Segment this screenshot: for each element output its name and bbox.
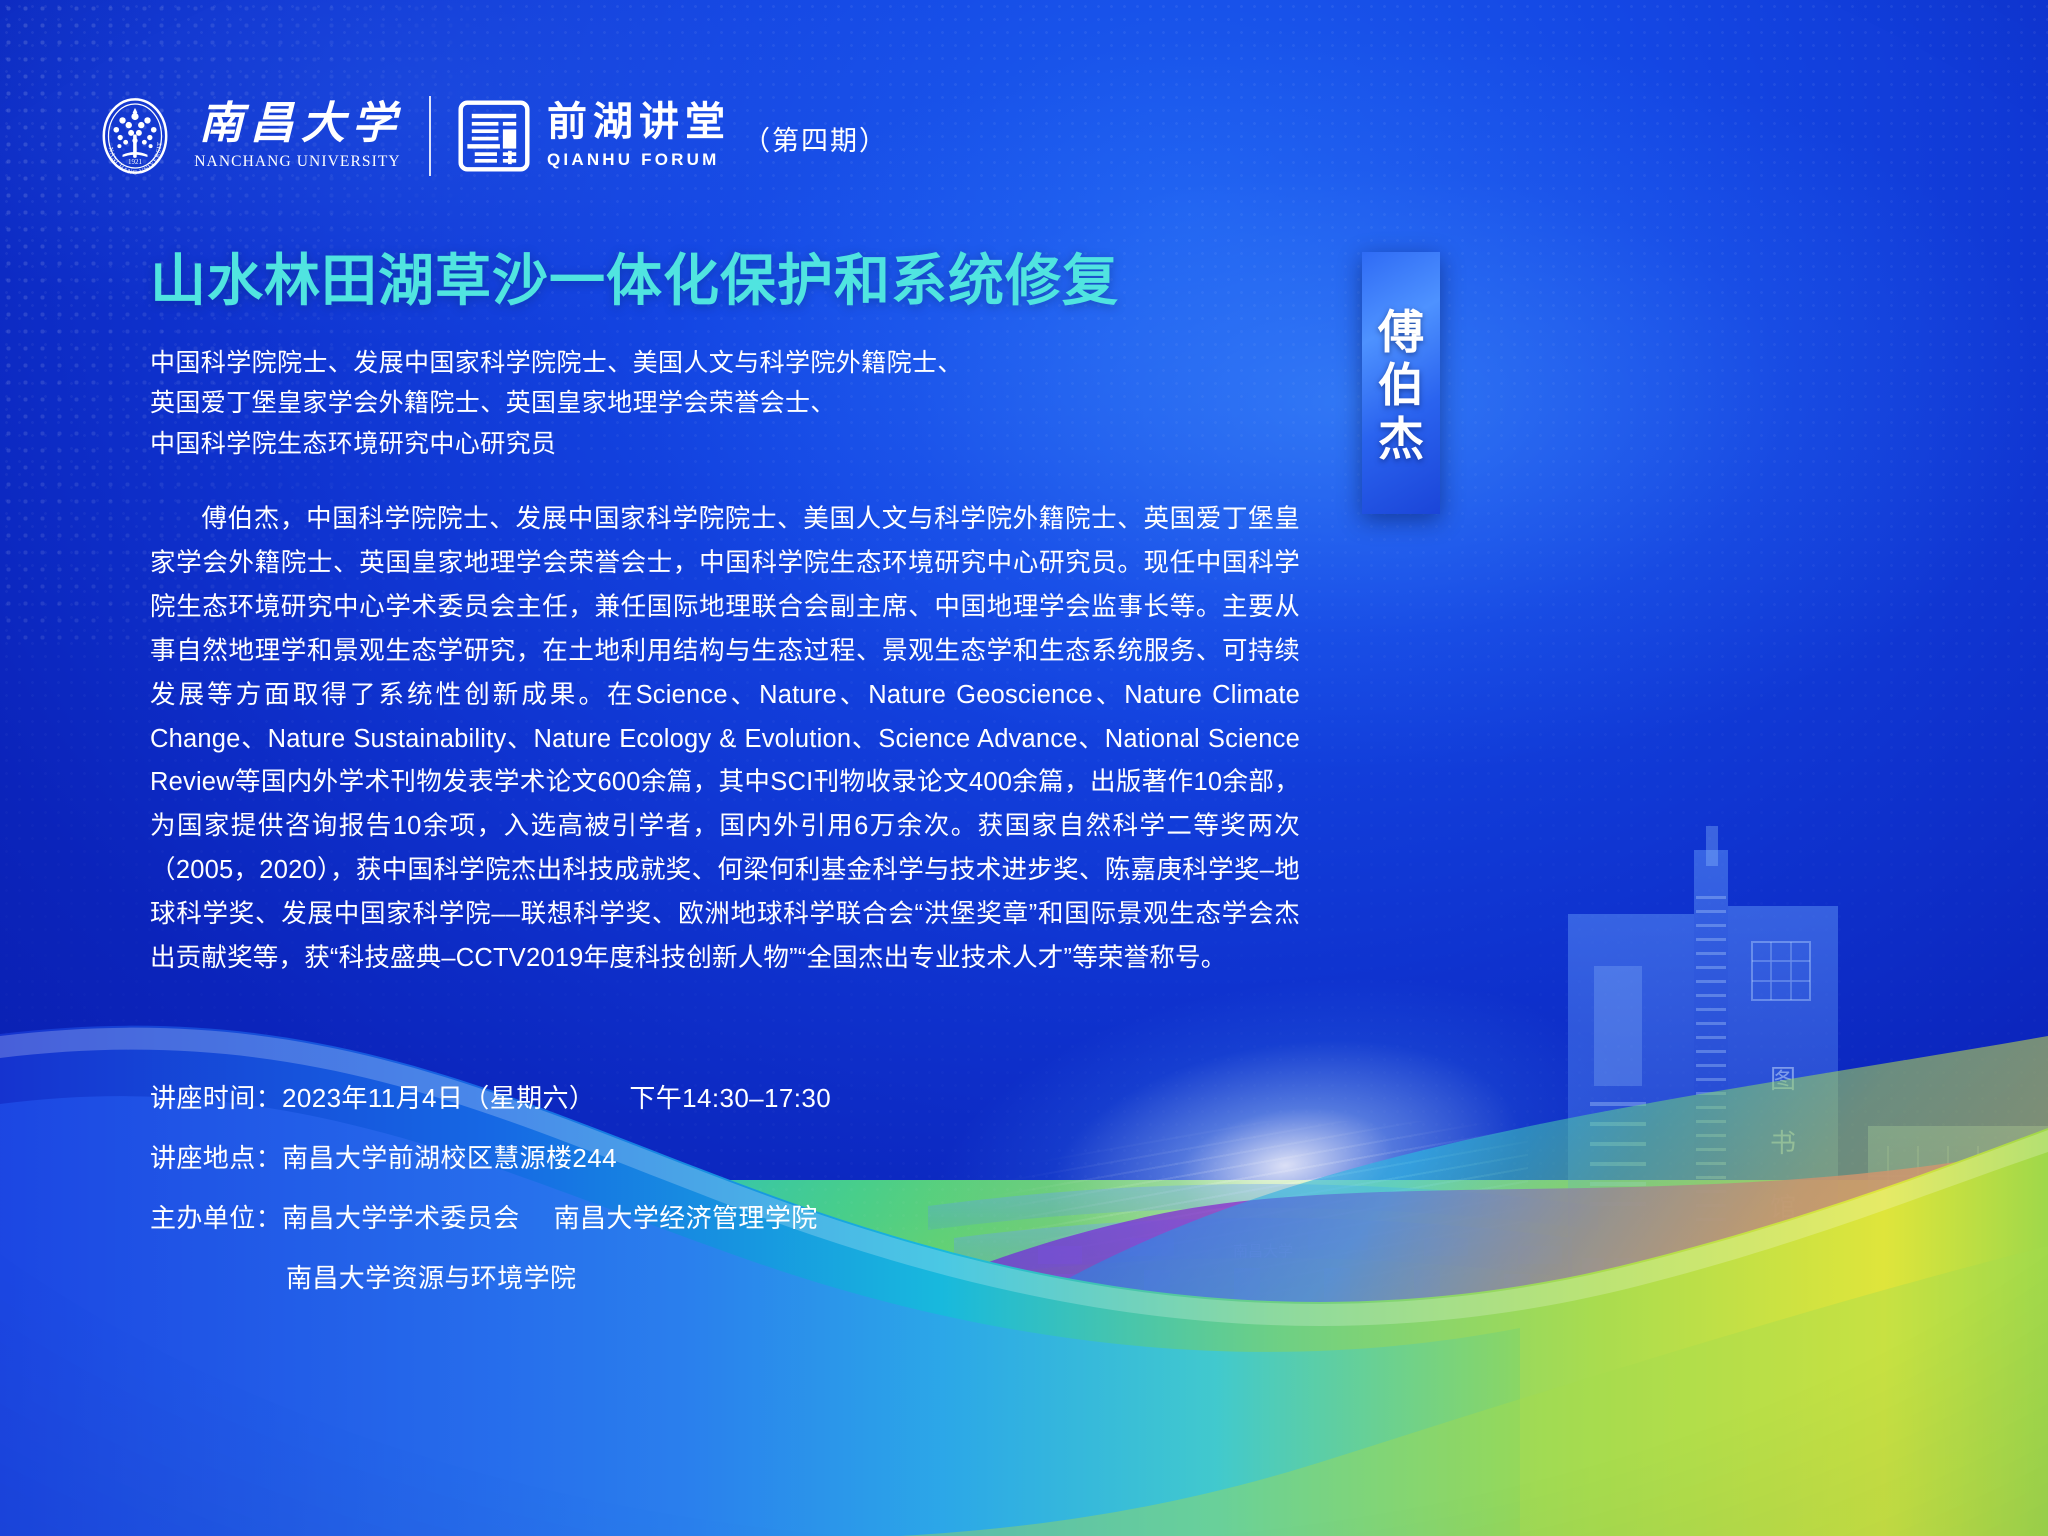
- header-divider: [429, 96, 431, 176]
- event-host-row-2: 南昌大学资源与环境学院: [150, 1265, 1250, 1291]
- seal-year-label: 1921: [128, 158, 143, 166]
- university-name-en: NANCHANG UNIVERSITY: [194, 153, 400, 171]
- event-place-label: 讲座地点：: [150, 1143, 282, 1173]
- university-name-cn: 南昌大学: [192, 102, 403, 146]
- poster-header: 1921 NANCHANG UNIVERSITY 南昌大学 NANCHANG U…: [96, 96, 888, 176]
- forum-name-cn: 前湖讲堂: [547, 102, 731, 142]
- event-host-row: 主办单位：南昌大学学术委员会南昌大学经济管理学院: [150, 1205, 1250, 1231]
- credential-line: 中国科学院生态环境研究中心研究员: [150, 424, 1310, 465]
- event-time-clock: 下午14:30–17:30: [629, 1083, 831, 1113]
- event-host-label: 主办单位：: [150, 1203, 282, 1233]
- poster-canvas: 南昌大学: [0, 0, 2048, 1536]
- event-host-1: 南昌大学学术委员会: [282, 1203, 520, 1233]
- event-host-2: 南昌大学经济管理学院: [554, 1203, 818, 1233]
- event-place-row: 讲座地点：南昌大学前湖校区慧源楼244: [150, 1145, 1250, 1171]
- credential-line: 中国科学院院士、发展中国家科学院院士、美国人文与科学院外籍院士、: [150, 343, 1310, 384]
- event-time-date: 2023年11月4日（星期六）: [282, 1083, 595, 1113]
- credential-line: 英国爱丁堡皇家学会外籍院士、英国皇家地理学会荣誉会士、: [150, 383, 1310, 424]
- qianhu-forum-seal-icon: [457, 99, 531, 173]
- biography-text: 傅伯杰，中国科学院院士、发展中国家科学院院士、美国人文与科学院外籍院士、英国爱丁…: [150, 505, 1300, 972]
- event-host-3: 南昌大学资源与环境学院: [286, 1263, 576, 1293]
- forum-name-en: QIANHU FORUM: [547, 150, 731, 170]
- speaker-credentials: 中国科学院院士、发展中国家科学院院士、美国人文与科学院外籍院士、 英国爱丁堡皇家…: [150, 343, 1310, 465]
- forum-issue-number: （第四期）: [743, 115, 888, 158]
- event-place-value: 南昌大学前湖校区慧源楼244: [282, 1143, 617, 1173]
- university-wordmark: 南昌大学 NANCHANG UNIVERSITY: [192, 102, 403, 171]
- event-details: 讲座时间：2023年11月4日（星期六）下午14:30–17:30 讲座地点：南…: [150, 1085, 1250, 1325]
- talk-title: 山水林田湖草沙一体化保护和系统修复: [150, 250, 1310, 313]
- forum-wordmark: 前湖讲堂 QIANHU FORUM: [547, 102, 731, 170]
- speaker-biography: 傅伯杰，中国科学院院士、发展中国家科学院院士、美国人文与科学院外籍院士、英国爱丁…: [150, 498, 1300, 980]
- speaker-portrait-photo: [1406, 195, 1990, 895]
- event-time-label: 讲座时间：: [150, 1083, 282, 1113]
- nanchang-university-seal-icon: 1921 NANCHANG UNIVERSITY: [96, 97, 174, 175]
- poster-content: 山水林田湖草沙一体化保护和系统修复 中国科学院院士、发展中国家科学院院士、美国人…: [150, 250, 1310, 981]
- event-time-row: 讲座时间：2023年11月4日（星期六）下午14:30–17:30: [150, 1085, 1250, 1111]
